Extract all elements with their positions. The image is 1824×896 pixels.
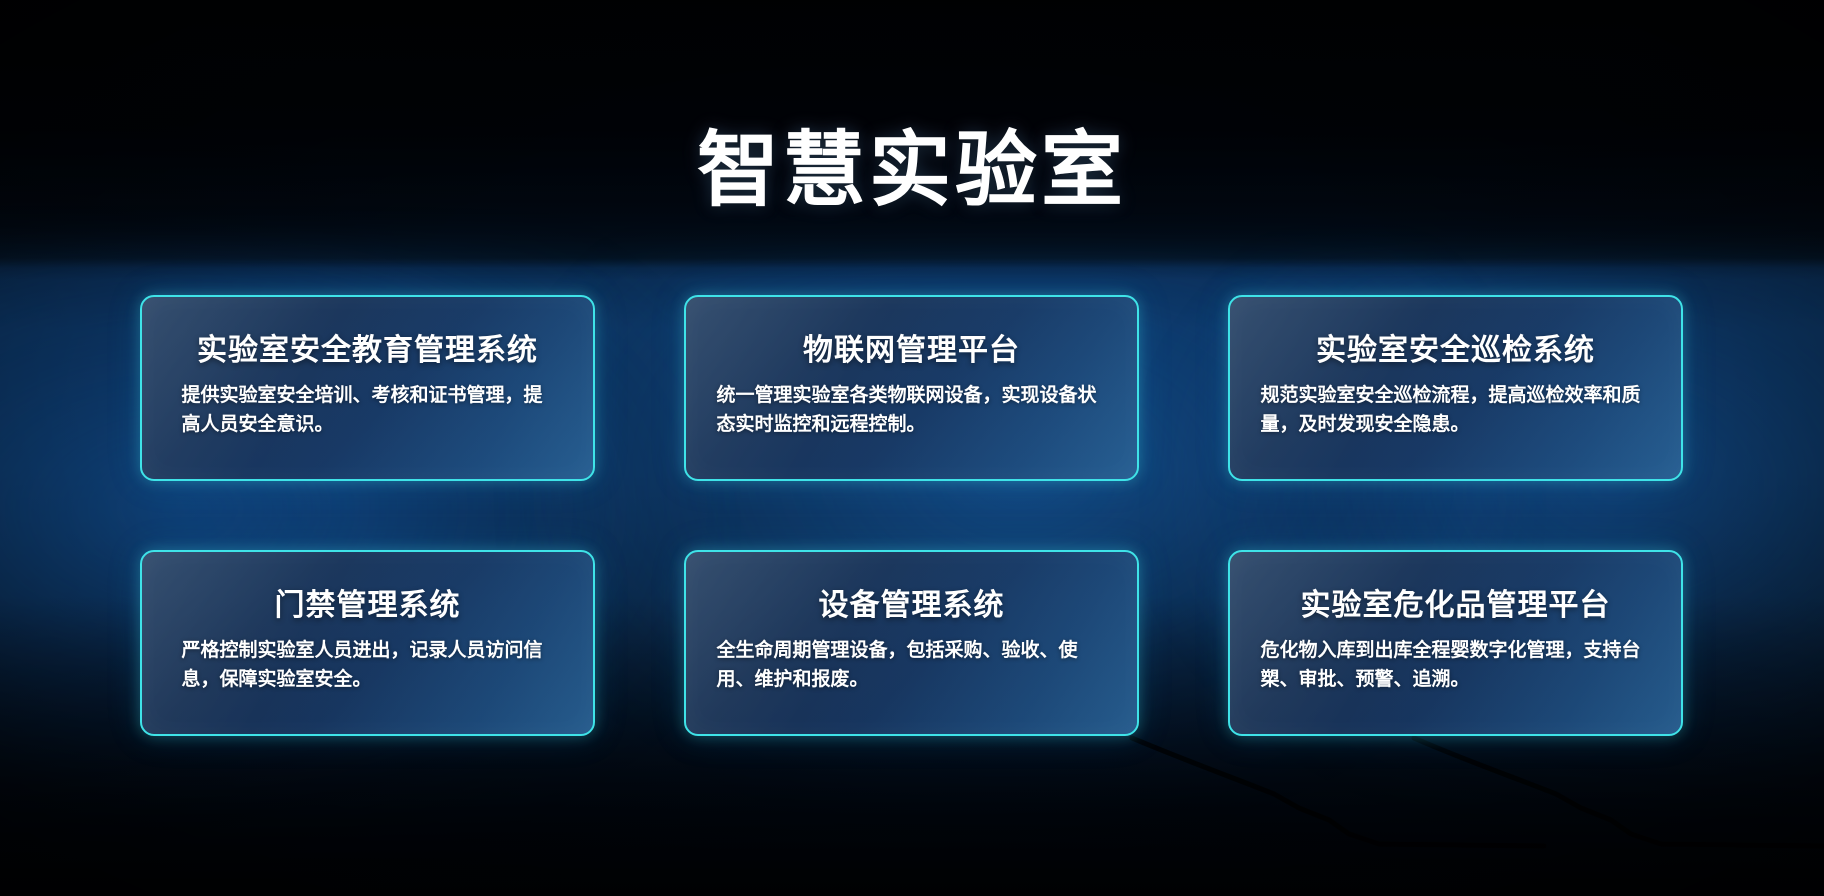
system-card-safety-inspection[interactable]: 实验室安全巡检系统 规范实验室安全巡检流程，提高巡检效率和质量，及时发现安全隐患… — [1228, 295, 1683, 481]
card-description: 提供实验室安全培训、考核和证书管理，提高人员安全意识。 — [182, 381, 554, 440]
card-description: 严格控制实验室人员进出，记录人员访问信息，保障实验室安全。 — [182, 636, 554, 695]
system-card-equipment-management[interactable]: 设备管理系统 全生命周期管理设备，包括采购、验收、使用、维护和报废。 — [684, 550, 1139, 736]
card-title: 实验室危化品管理平台 — [1301, 588, 1611, 624]
card-title: 物联网管理平台 — [803, 333, 1020, 369]
system-card-iot-platform[interactable]: 物联网管理平台 统一管理实验室各类物联网设备，实现设备状态实时监控和远程控制。 — [684, 295, 1139, 481]
card-title: 门禁管理系统 — [275, 588, 461, 624]
page-title: 智慧实验室 — [0, 127, 1824, 216]
slide-canvas: 智慧实验室 实验室安全教育管理系统 提供实验室安全培训、考核和证书管理，提高人员… — [0, 0, 1824, 896]
card-description: 统一管理实验室各类物联网设备，实现设备状态实时监控和远程控制。 — [717, 381, 1107, 440]
system-card-hazardous-chemicals[interactable]: 实验室危化品管理平台 危化物入库到出库全程婴数字化管理，支持台槊、审批、预警、追… — [1228, 550, 1683, 736]
system-card-safety-education[interactable]: 实验室安全教育管理系统 提供实验室安全培训、考核和证书管理，提高人员安全意识。 — [140, 295, 595, 481]
card-title: 设备管理系统 — [819, 588, 1005, 624]
card-description: 危化物入库到出库全程婴数字化管理，支持台槊、审批、预警、追溯。 — [1261, 636, 1651, 695]
system-card-access-control[interactable]: 门禁管理系统 严格控制实验室人员进出，记录人员访问信息，保障实验室安全。 — [140, 550, 595, 736]
card-title: 实验室安全教育管理系统 — [197, 333, 538, 369]
card-description: 规范实验室安全巡检流程，提高巡检效率和质量，及时发现安全隐患。 — [1261, 381, 1651, 440]
card-title: 实验室安全巡检系统 — [1316, 333, 1595, 369]
card-description: 全生命周期管理设备，包括采购、验收、使用、维护和报废。 — [717, 636, 1107, 695]
system-card-grid: 实验室安全教育管理系统 提供实验室安全培训、考核和证书管理，提高人员安全意识。 … — [140, 295, 1684, 736]
